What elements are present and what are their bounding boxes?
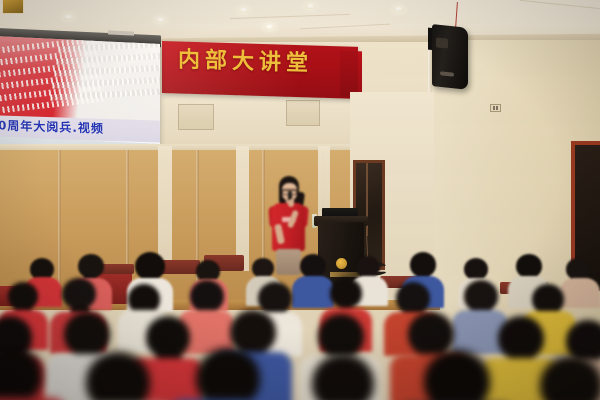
ceiling-downlight: [264, 24, 275, 30]
person-torso: [292, 276, 334, 308]
person-head: [424, 350, 490, 400]
hall-banner-text: 内部大讲堂: [178, 49, 348, 76]
person-head: [532, 284, 564, 314]
person-head: [0, 346, 42, 400]
wall-panel-inset: [286, 100, 320, 126]
person-head: [62, 278, 96, 309]
person-head: [64, 312, 110, 356]
audience: [0, 230, 600, 400]
person-head: [356, 256, 380, 278]
person-head: [230, 310, 276, 354]
person-torso: [560, 278, 600, 308]
ceiling-downlight: [63, 14, 74, 20]
speaker-driver-icon: [436, 37, 448, 48]
person-head: [516, 254, 542, 278]
ceiling-downlight: [393, 6, 404, 12]
photo-scene: 内部大讲堂 0周年大阅兵.视频: [0, 0, 600, 400]
wall-panel-inset: [178, 104, 214, 130]
ceiling-downlight: [305, 3, 316, 9]
person-head: [408, 312, 454, 356]
person-head: [410, 252, 436, 277]
wall-speaker: [432, 24, 468, 90]
ceiling-downlight: [155, 17, 166, 23]
ceiling-downlight: [238, 7, 249, 13]
presenter-hand: [288, 199, 294, 207]
wall-emblem: [2, 0, 24, 14]
wall-pilaster: [318, 146, 330, 216]
person-head: [566, 258, 590, 280]
person-head: [252, 258, 274, 278]
wall-outlet: [490, 104, 501, 112]
person-head: [190, 280, 224, 312]
person-head: [135, 252, 165, 280]
person-head: [330, 278, 362, 308]
person-head: [464, 258, 488, 280]
person-head: [464, 280, 498, 312]
person-head: [300, 254, 326, 278]
person-head: [196, 348, 260, 400]
